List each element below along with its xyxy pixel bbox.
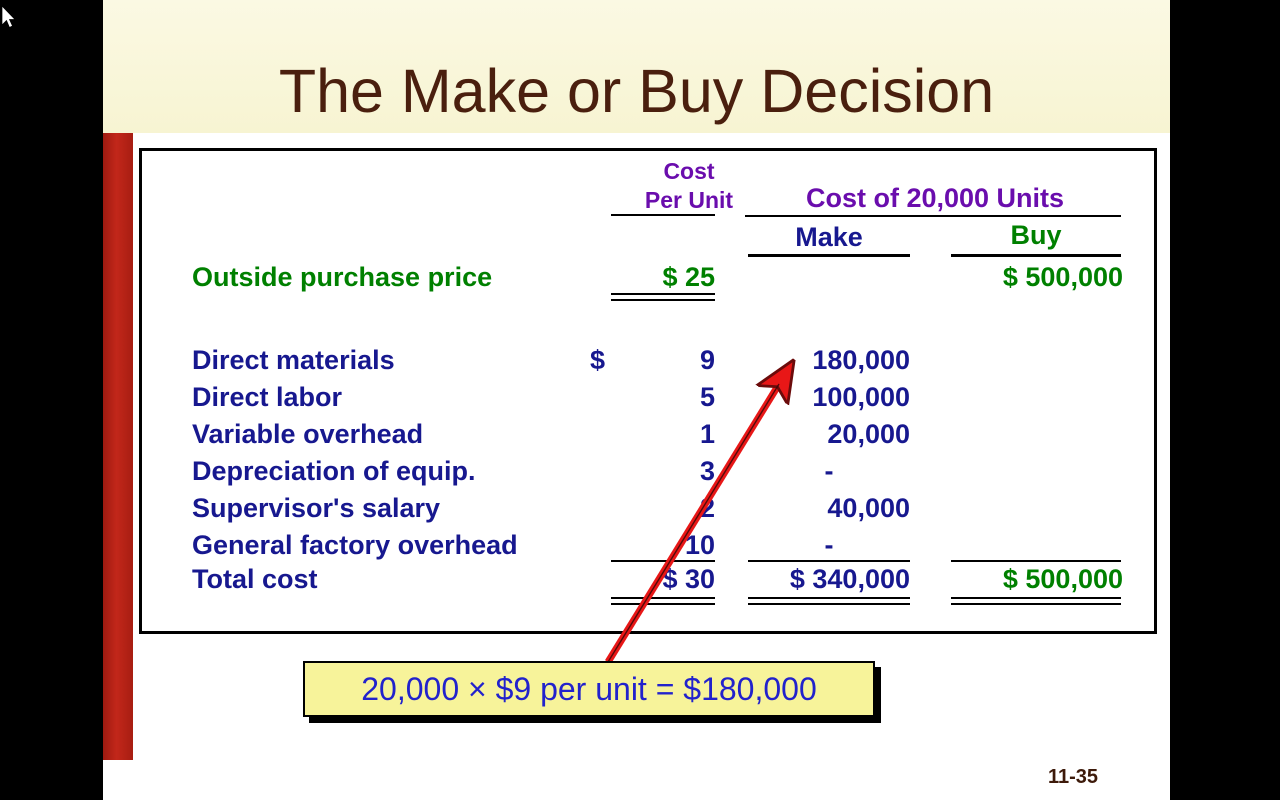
- rule-total-make-bottom-2: [748, 603, 910, 605]
- header-make: Make: [748, 222, 910, 253]
- value-outside-buy: $ 500,000: [947, 262, 1123, 293]
- value-supervisors-salary-make: 40,000: [748, 493, 910, 524]
- page-number: 11-35: [1003, 766, 1143, 789]
- row-label-direct-labor: Direct labor: [192, 382, 342, 413]
- rule-total-buy-bottom-2: [951, 603, 1121, 605]
- value-direct-labor-per-unit: 5: [632, 382, 715, 413]
- callout-box: 20,000 × $9 per unit = $180,000: [303, 661, 875, 717]
- value-supervisors-salary-per-unit: 2: [632, 493, 715, 524]
- rule-total-per-unit-bottom-1: [611, 597, 715, 599]
- header-buy: Buy: [951, 220, 1121, 251]
- value-general-factory-overhead-per-unit: 10: [632, 530, 715, 561]
- header-cost-line2: Per Unit: [624, 187, 754, 214]
- value-variable-overhead-make: 20,000: [748, 419, 910, 450]
- title-banner: The Make or Buy Decision: [103, 0, 1170, 133]
- row-label-direct-materials: Direct materials: [192, 345, 395, 376]
- value-depreciation-make: -: [748, 456, 910, 487]
- header-cost-of-units: Cost of 20,000 Units: [747, 183, 1123, 214]
- rule-total-buy-top: [951, 560, 1121, 562]
- rule-total-per-unit-top: [611, 560, 715, 562]
- value-depreciation-per-unit: 3: [632, 456, 715, 487]
- callout-text: 20,000 × $9 per unit = $180,000: [361, 671, 817, 708]
- cost-comparison-table: Cost Per Unit Cost of 20,000 Units Make …: [139, 148, 1157, 634]
- value-total-buy: $ 500,000: [947, 564, 1123, 595]
- rule-total-buy-bottom-1: [951, 597, 1121, 599]
- value-total-per-unit: $ 30: [597, 564, 715, 595]
- row-label-general-factory-overhead: General factory overhead: [192, 530, 518, 561]
- value-total-make: $ 340,000: [740, 564, 910, 595]
- left-accent-bar: [103, 133, 133, 760]
- rule-buy-header: [951, 254, 1121, 257]
- row-label-variable-overhead: Variable overhead: [192, 419, 423, 450]
- rule-cost-of-units-header: [745, 215, 1121, 217]
- value-direct-materials-per-unit-symbol: $: [590, 345, 632, 376]
- value-direct-materials-make: 180,000: [748, 345, 910, 376]
- slide-screen: The Make or Buy Decision Cost Per Unit C…: [0, 0, 1280, 800]
- row-label-supervisors-salary: Supervisor's salary: [192, 493, 440, 524]
- value-direct-labor-make: 100,000: [748, 382, 910, 413]
- value-outside-per-unit: $ 25: [597, 262, 715, 293]
- rule-make-header: [748, 254, 910, 257]
- mouse-cursor-icon: [2, 6, 18, 32]
- rule-outside-per-unit-top: [611, 293, 715, 295]
- page-title: The Make or Buy Decision: [103, 56, 1170, 126]
- value-direct-materials-per-unit: 9: [632, 345, 715, 376]
- rule-total-per-unit-bottom-2: [611, 603, 715, 605]
- rule-total-make-bottom-1: [748, 597, 910, 599]
- rule-per-unit-header: [611, 214, 715, 216]
- slide-canvas: The Make or Buy Decision Cost Per Unit C…: [103, 0, 1170, 800]
- row-label-total-cost: Total cost: [192, 564, 318, 595]
- row-label-outside-purchase-price: Outside purchase price: [192, 262, 492, 293]
- rule-outside-per-unit-bottom: [611, 299, 715, 301]
- value-variable-overhead-per-unit: 1: [632, 419, 715, 450]
- rule-total-make-top: [748, 560, 910, 562]
- value-general-factory-overhead-make: -: [748, 530, 910, 561]
- row-label-depreciation-of-equipment: Depreciation of equip.: [192, 456, 476, 487]
- header-cost-line1: Cost: [634, 158, 744, 185]
